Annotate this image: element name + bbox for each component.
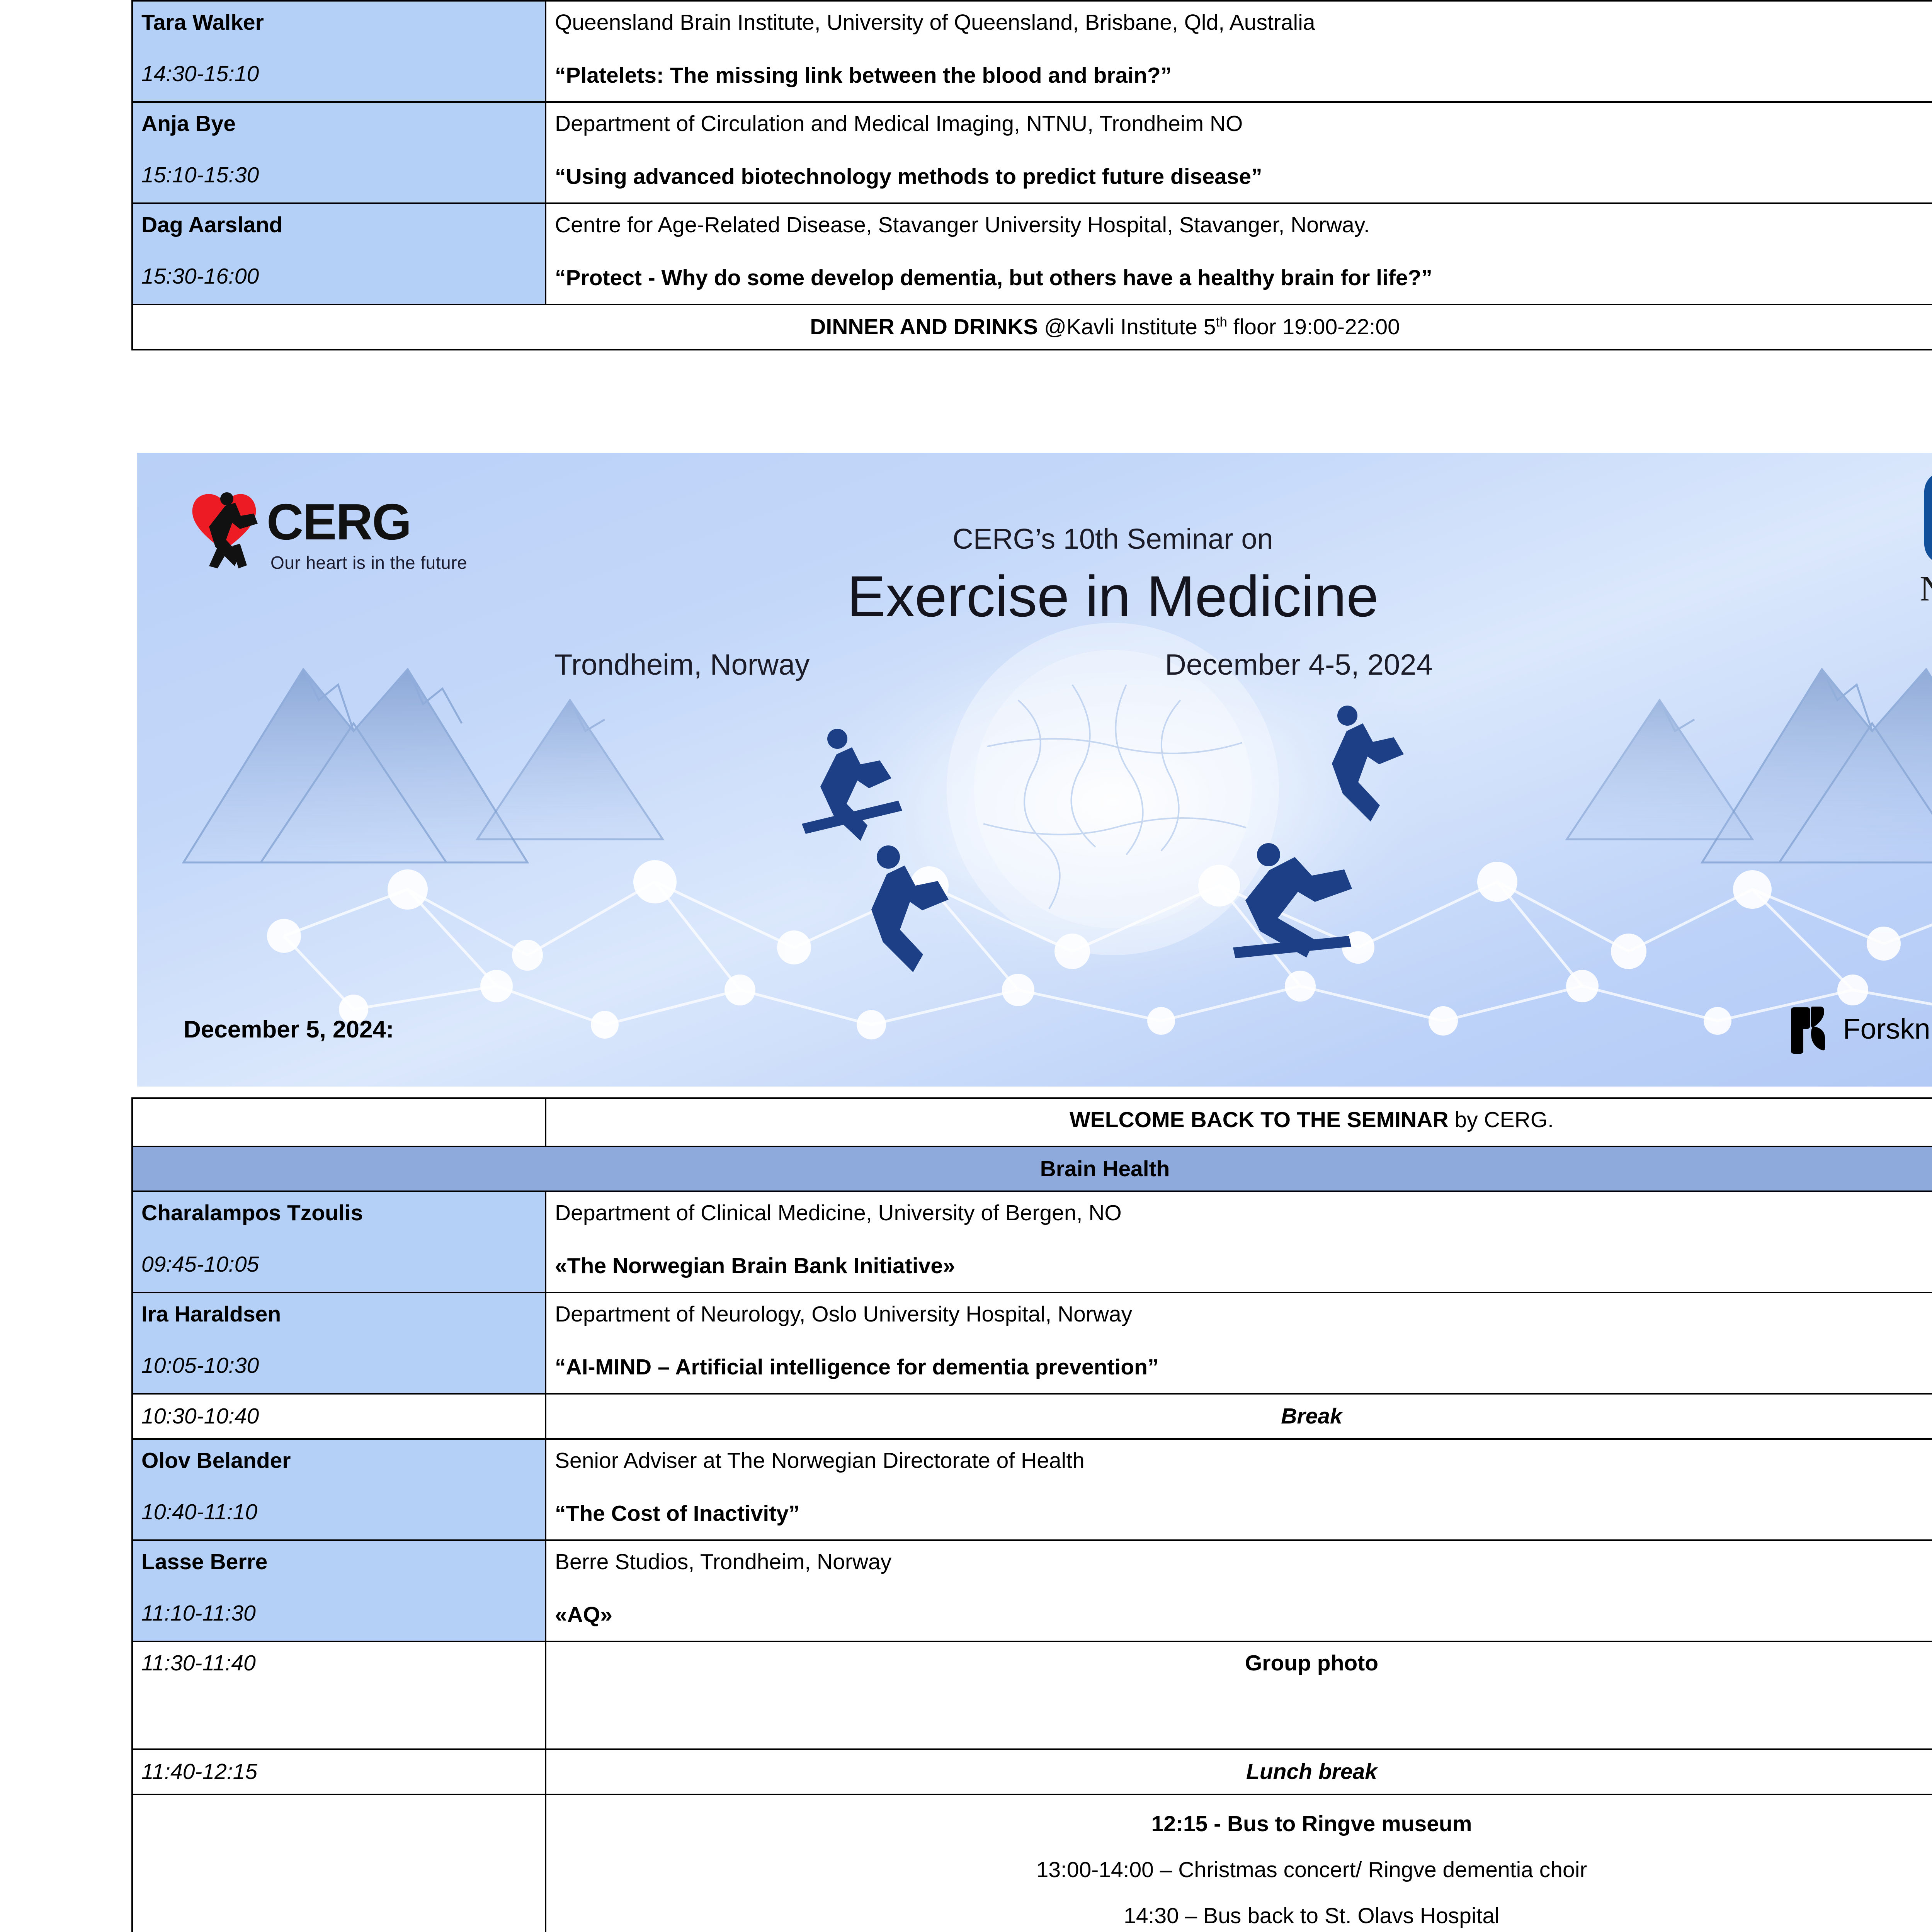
break-label: Lunch break bbox=[546, 1749, 1932, 1794]
dinner-label: DINNER AND DRINKS bbox=[810, 315, 1038, 339]
affiliation: Berre Studios, Trondheim, Norway bbox=[555, 1546, 1932, 1578]
welcome-detail: by CERG. bbox=[1449, 1107, 1554, 1132]
forskningsradet-mark-icon bbox=[1791, 1004, 1830, 1054]
day-label: December 5, 2024: bbox=[184, 1016, 394, 1043]
time-cell: Anja Bye 15:10-15:30 bbox=[132, 102, 546, 203]
welcome-cell: WELCOME BACK TO THE SEMINAR by CERG. bbox=[546, 1098, 1932, 1146]
empty-time-cell bbox=[132, 1098, 546, 1146]
table-row: Ira Haraldsen 10:05-10:30 Department of … bbox=[132, 1293, 1932, 1394]
closing-line-3: 14:30 – Bus back to St. Olavs Hospital bbox=[555, 1900, 1932, 1932]
dinner-detail-post: floor 19:00-22:00 bbox=[1227, 315, 1400, 339]
talk-title: “Using advanced biotechnology methods to… bbox=[555, 161, 1932, 192]
banner-dates: December 4-5, 2024 bbox=[1165, 648, 1433, 682]
welcome-label: WELCOME BACK TO THE SEMINAR bbox=[1070, 1107, 1449, 1132]
activity-label: Group photo bbox=[546, 1641, 1932, 1749]
table-row: Lasse Berre 11:10-11:30 Berre Studios, T… bbox=[132, 1540, 1932, 1641]
time-range: 10:05-10:30 bbox=[141, 1350, 536, 1381]
table-row: Charalampos Tzoulis 09:45-10:05 Departme… bbox=[132, 1191, 1932, 1293]
speaker-name: Ira Haraldsen bbox=[141, 1299, 536, 1330]
table-row-break: 11:40-12:15 Lunch break bbox=[132, 1749, 1932, 1794]
talk-title: “Protect - Why do some develop dementia,… bbox=[555, 262, 1932, 294]
info-cell: Senior Adviser at The Norwegian Director… bbox=[546, 1439, 1932, 1540]
time-cell: Lasse Berre 11:10-11:30 bbox=[132, 1540, 546, 1641]
speaker-name: Tara Walker bbox=[141, 7, 536, 38]
banner-title: Exercise in Medicine bbox=[137, 563, 1932, 630]
time-cell: 10:30-10:40 bbox=[132, 1394, 546, 1439]
closing-line-2: 13:00-14:00 – Christmas concert/ Ringve … bbox=[555, 1854, 1932, 1886]
table-row: Anja Bye 15:10-15:30 Department of Circu… bbox=[132, 102, 1932, 203]
speaker-name: Anja Bye bbox=[141, 108, 536, 139]
table-row: Olov Belander 10:40-11:10 Senior Adviser… bbox=[132, 1439, 1932, 1540]
info-cell: Centre for Age-Related Disease, Stavange… bbox=[546, 203, 1932, 304]
time-range: 09:45-10:05 bbox=[141, 1249, 536, 1280]
info-cell: Queensland Brain Institute, University o… bbox=[546, 1, 1932, 102]
time-range: 11:10-11:30 bbox=[141, 1598, 536, 1629]
table-row: Tara Walker 14:30-15:10 Queensland Brain… bbox=[132, 1, 1932, 102]
affiliation: Department of Neurology, Oslo University… bbox=[555, 1299, 1932, 1330]
table-row-dinner: DINNER AND DRINKS @Kavli Institute 5th f… bbox=[132, 304, 1932, 350]
section-header-brain-health: Brain Health bbox=[132, 1146, 1932, 1192]
table-row-welcome: WELCOME BACK TO THE SEMINAR by CERG. bbox=[132, 1098, 1932, 1146]
closing-cell: 12:15 - Bus to Ringve museum 13:00-14:00… bbox=[546, 1794, 1932, 1932]
affiliation: Department of Circulation and Medical Im… bbox=[555, 108, 1932, 139]
banner-subtitle: CERG’s 10th Seminar on bbox=[137, 522, 1932, 555]
talk-title: “Platelets: The missing link between the… bbox=[555, 60, 1932, 91]
schedule-table-day2: WELCOME BACK TO THE SEMINAR by CERG. Bra… bbox=[131, 1097, 1932, 1932]
speaker-name: Lasse Berre bbox=[141, 1546, 536, 1578]
dinner-detail-pre: @Kavli Institute 5 bbox=[1038, 315, 1216, 339]
affiliation: Department of Clinical Medicine, Univers… bbox=[555, 1197, 1932, 1229]
time-range: 15:30-16:00 bbox=[141, 261, 536, 292]
speaker-name: Charalampos Tzoulis bbox=[141, 1197, 536, 1229]
info-cell: Berre Studios, Trondheim, Norway «AQ» bbox=[546, 1540, 1932, 1641]
time-cell: Tara Walker 14:30-15:10 bbox=[132, 1, 546, 102]
empty-time-cell bbox=[132, 1794, 546, 1932]
time-cell: Dag Aarsland 15:30-16:00 bbox=[132, 203, 546, 304]
seminar-banner: CERG Our heart is in the future NTNU CER… bbox=[137, 453, 1932, 1087]
talk-title: «AQ» bbox=[555, 1599, 1932, 1631]
dinner-cell: DINNER AND DRINKS @Kavli Institute 5th f… bbox=[132, 304, 1932, 350]
time-range: 10:40-11:10 bbox=[141, 1497, 536, 1528]
time-range: 11:30-11:40 bbox=[141, 1648, 536, 1679]
table-row: Dag Aarsland 15:30-16:00 Centre for Age-… bbox=[132, 203, 1932, 304]
document-page: Tara Walker 14:30-15:10 Queensland Brain… bbox=[0, 0, 1932, 1932]
time-cell: 11:40-12:15 bbox=[132, 1749, 546, 1794]
closing-line-1: 12:15 - Bus to Ringve museum bbox=[555, 1808, 1932, 1840]
table-row-activity: 11:30-11:40 Group photo bbox=[132, 1641, 1932, 1749]
time-cell: Ira Haraldsen 10:05-10:30 bbox=[132, 1293, 546, 1394]
funder-label: Forskningsrådet bbox=[1843, 1012, 1932, 1045]
forskningsradet-logo: Forskningsrådet bbox=[1791, 1004, 1932, 1054]
time-range: 11:40-12:15 bbox=[141, 1756, 536, 1787]
banner-city: Trondheim, Norway bbox=[554, 648, 810, 682]
time-cell: Charalampos Tzoulis 09:45-10:05 bbox=[132, 1191, 546, 1293]
table-row-break: 10:30-10:40 Break bbox=[132, 1394, 1932, 1439]
affiliation: Centre for Age-Related Disease, Stavange… bbox=[555, 209, 1932, 241]
time-cell: 11:30-11:40 bbox=[132, 1641, 546, 1749]
affiliation: Queensland Brain Institute, University o… bbox=[555, 7, 1932, 38]
break-label: Break bbox=[546, 1394, 1932, 1439]
time-range: 10:30-10:40 bbox=[141, 1401, 536, 1432]
time-range: 14:30-15:10 bbox=[141, 58, 536, 90]
affiliation: Senior Adviser at The Norwegian Director… bbox=[555, 1445, 1932, 1476]
table-row-section-header: Brain Health bbox=[132, 1146, 1932, 1192]
speaker-name: Olov Belander bbox=[141, 1445, 536, 1476]
talk-title: “AI-MIND – Artificial intelligence for d… bbox=[555, 1352, 1932, 1383]
table-row-closing: 12:15 - Bus to Ringve museum 13:00-14:00… bbox=[132, 1794, 1932, 1932]
schedule-table-day1: Tara Walker 14:30-15:10 Queensland Brain… bbox=[131, 0, 1932, 350]
info-cell: Department of Circulation and Medical Im… bbox=[546, 102, 1932, 203]
speaker-name: Dag Aarsland bbox=[141, 209, 536, 241]
info-cell: Department of Clinical Medicine, Univers… bbox=[546, 1191, 1932, 1293]
time-range: 15:10-15:30 bbox=[141, 160, 536, 191]
time-cell: Olov Belander 10:40-11:10 bbox=[132, 1439, 546, 1540]
talk-title: «The Norwegian Brain Bank Initiative» bbox=[555, 1250, 1932, 1282]
section-spacer bbox=[0, 350, 1932, 453]
talk-title: “The Cost of Inactivity” bbox=[555, 1498, 1932, 1529]
ordinal-suffix: th bbox=[1216, 315, 1227, 330]
info-cell: Department of Neurology, Oslo University… bbox=[546, 1293, 1932, 1394]
